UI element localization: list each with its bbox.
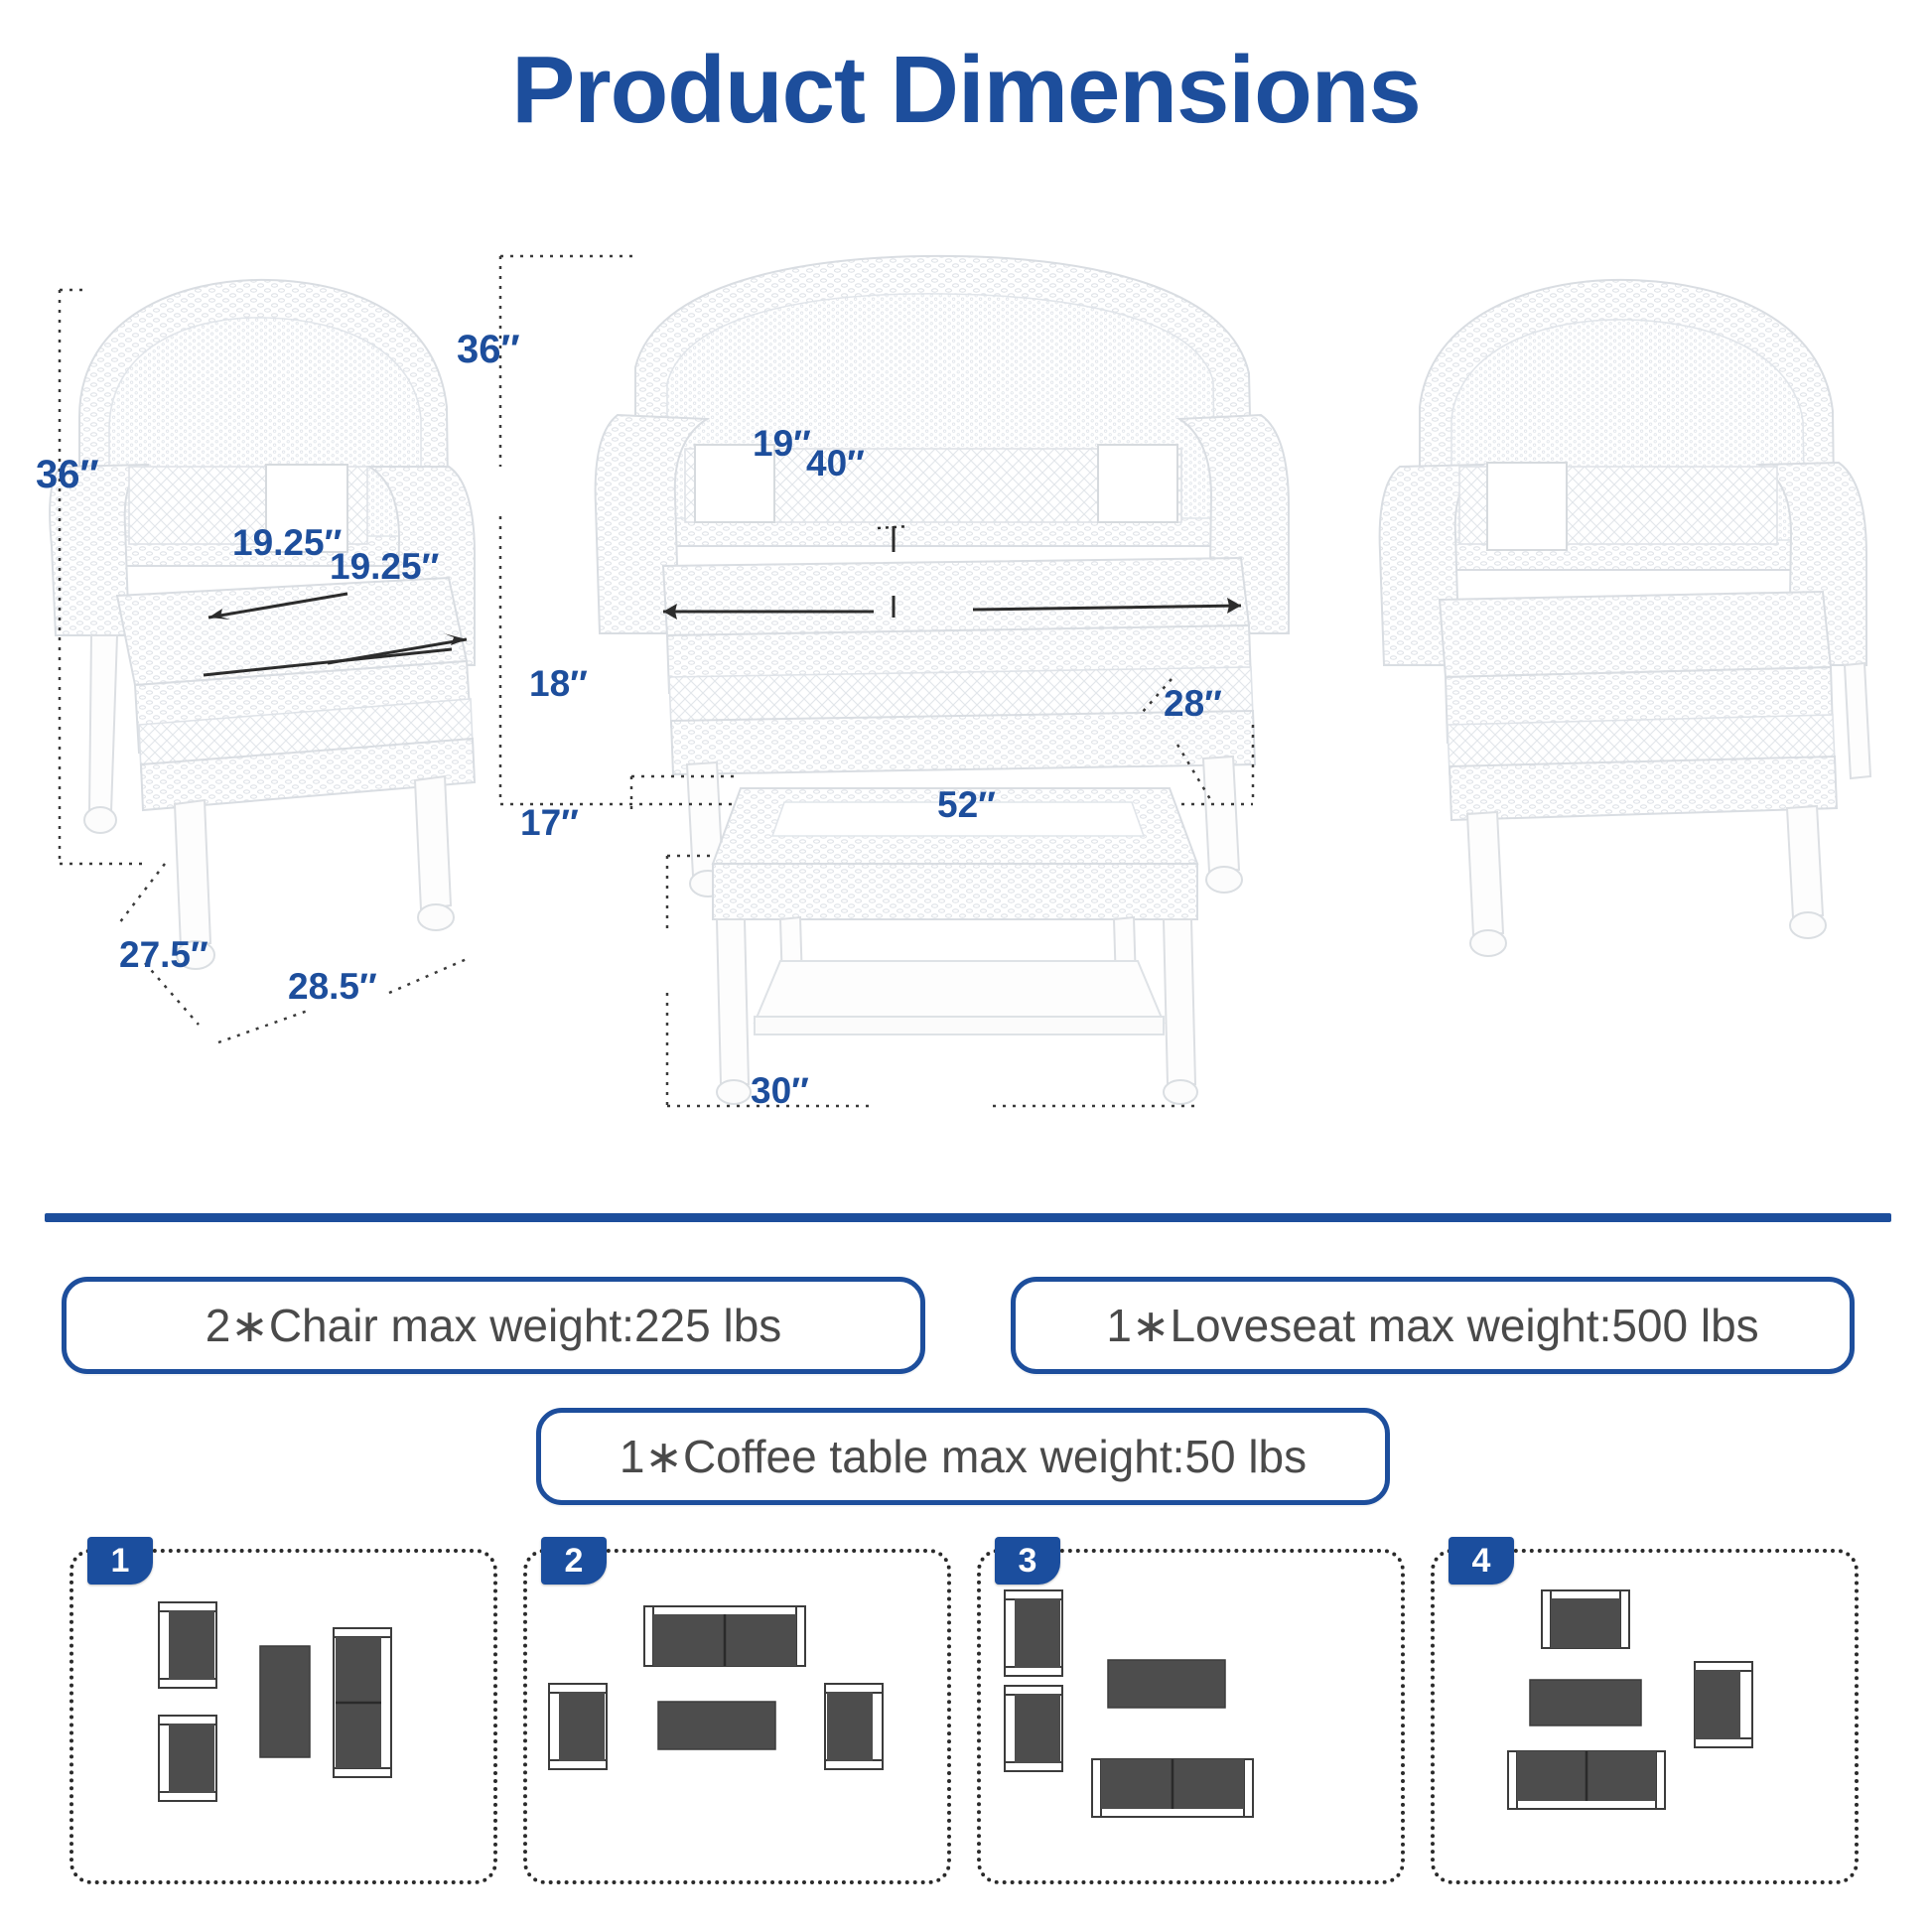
loveseat-depth-label: 28″ xyxy=(1164,685,1222,722)
chair-icon xyxy=(825,1684,883,1769)
chair-right-illustration xyxy=(1380,280,1870,956)
arrangement-4-layout xyxy=(1435,1553,1855,1880)
chair-depth-label: 27.5″ xyxy=(119,936,208,973)
loveseat-seat-width-label: 40″ xyxy=(806,445,865,482)
arrangement-panel-4[interactable]: 4 xyxy=(1431,1549,1859,1884)
arrangement-2-layout xyxy=(527,1553,947,1880)
coffee-table-depth-label: 18″ xyxy=(529,665,588,702)
arrangement-panel-2[interactable]: 2 xyxy=(523,1549,951,1884)
chair-icon xyxy=(1542,1590,1629,1648)
chair-weight-box: 2∗Chair max weight:225 lbs xyxy=(62,1277,925,1374)
coffee-table-icon xyxy=(1530,1680,1641,1725)
chair-icon xyxy=(1005,1686,1062,1771)
loveseat-icon xyxy=(1508,1751,1665,1809)
chair-icon xyxy=(159,1602,216,1688)
loveseat-height-label: 36″ xyxy=(457,330,520,369)
loveseat-icon xyxy=(1092,1759,1253,1817)
dimension-diagram: 36″ 19.25″ 19.25″ 27.5″ 28.5″ 36″ 19″ 40… xyxy=(0,169,1932,1191)
coffee-table-illustration xyxy=(713,788,1197,1104)
arrangement-panel-3[interactable]: 3 xyxy=(977,1549,1405,1884)
arrangement-1-layout xyxy=(73,1553,493,1880)
chair-left-illustration xyxy=(50,280,475,969)
section-divider xyxy=(45,1213,1891,1222)
loveseat-seat-height-label: 19″ xyxy=(753,425,811,462)
loveseat-icon xyxy=(644,1606,805,1666)
arrangement-panel-1[interactable]: 1 xyxy=(69,1549,497,1884)
coffee-table-icon xyxy=(260,1646,310,1757)
chair-width-label: 28.5″ xyxy=(288,968,377,1005)
chair-icon xyxy=(1695,1662,1752,1747)
loveseat-weight-box: 1∗Loveseat max weight:500 lbs xyxy=(1011,1277,1855,1374)
chair-seat-depth-label: 19.25″ xyxy=(232,524,342,561)
chair-icon xyxy=(159,1716,216,1801)
chair-seat-width-label: 19.25″ xyxy=(330,548,439,585)
arrangement-panels: 1 xyxy=(0,1549,1932,1886)
loveseat-width-label: 52″ xyxy=(937,786,996,823)
coffee-table-weight-box: 1∗Coffee table max weight:50 lbs xyxy=(536,1408,1390,1505)
chair-icon xyxy=(549,1684,607,1769)
coffee-table-width-label: 30″ xyxy=(751,1072,809,1109)
coffee-table-icon xyxy=(1108,1660,1225,1708)
chair-icon xyxy=(1005,1590,1062,1676)
coffee-table-icon xyxy=(658,1702,775,1749)
page-title: Product Dimensions xyxy=(0,38,1932,143)
product-dimensions-infographic: Product Dimensions xyxy=(0,0,1932,1932)
coffee-table-height-label: 17″ xyxy=(520,804,579,841)
arrangement-3-layout xyxy=(981,1553,1401,1880)
loveseat-icon xyxy=(334,1628,391,1777)
furniture-illustrations xyxy=(0,169,1932,1191)
chair-height-label: 36″ xyxy=(36,455,99,494)
